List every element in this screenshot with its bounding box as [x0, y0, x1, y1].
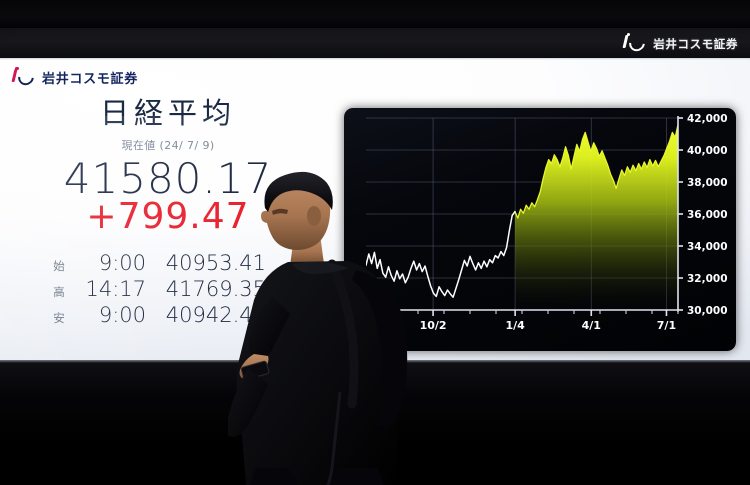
quote-subtitle: 現在値 (24/ 7/ 9): [0, 137, 336, 153]
brand-name-board: 岩井コスモ証券: [42, 68, 138, 87]
y-tick-label: 40,000: [687, 145, 728, 157]
stat-time: 9:00: [72, 303, 146, 327]
photo-scene: 岩井コスモ証券 岩井コスモ証券 日経平均 現在値 (24/ 7/ 9) 4158…: [0, 0, 750, 485]
iwai-cosmo-logo-icon: [621, 34, 647, 53]
pedestrian-silhouette: [228, 168, 478, 485]
stat-label: 安: [46, 310, 72, 326]
x-tick-label: 4/1: [582, 319, 601, 332]
stat-time: 9:00: [72, 251, 146, 275]
x-tick-label: 1/4: [505, 319, 525, 332]
y-tick-label: 38,000: [687, 177, 728, 189]
stat-label: 高: [46, 284, 72, 300]
iwai-cosmo-logo-icon: [10, 68, 36, 87]
y-tick-label: 34,000: [687, 241, 728, 253]
wall-top-band: [0, 0, 750, 28]
brand-logo-top-right: 岩井コスモ証券: [621, 33, 738, 54]
y-tick-label: 42,000: [687, 113, 728, 125]
brand-name-top: 岩井コスモ証券: [653, 36, 738, 52]
stat-time: 14:17: [72, 277, 146, 301]
brand-logo-board: 岩井コスモ証券: [10, 68, 138, 87]
chart-area-fill: [515, 125, 678, 310]
y-tick-label: 32,000: [687, 273, 728, 285]
x-tick-label: 7/1: [657, 319, 676, 332]
index-name: 日経平均: [0, 98, 336, 130]
chart-y-tick-labels: 30,00032,00034,00036,00038,00040,00042,0…: [687, 113, 728, 317]
stat-label: 始: [46, 258, 72, 274]
y-tick-label: 36,000: [687, 209, 728, 221]
y-tick-label: 30,000: [687, 305, 728, 317]
